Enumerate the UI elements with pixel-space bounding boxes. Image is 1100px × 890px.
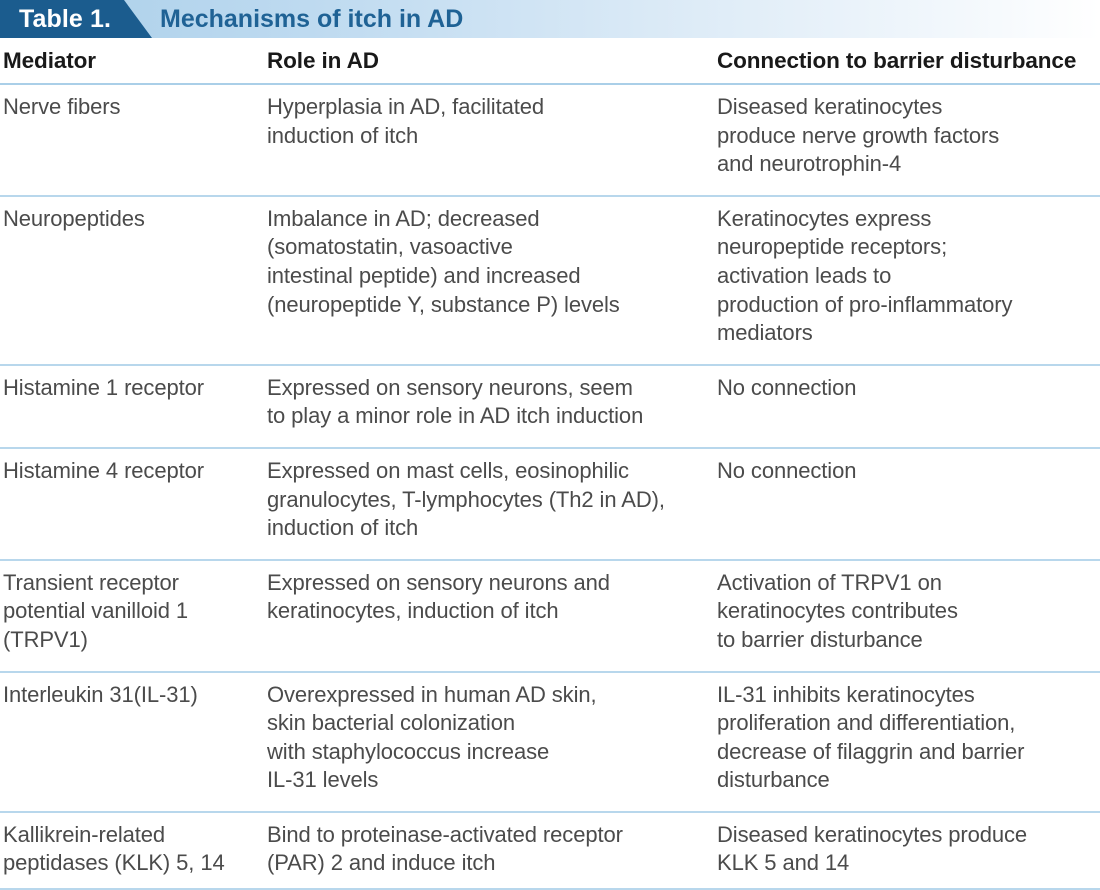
table-row: Nerve fibersHyperplasia in AD, facilitat… xyxy=(0,84,1100,196)
cell-role-in-ad: Expressed on sensory neurons, seemto pla… xyxy=(267,365,717,448)
cell-line: neuropeptide receptors; xyxy=(717,233,1086,262)
cell-line: production of pro-inflammatory xyxy=(717,291,1086,320)
cell-mediator: Kallikrein-relatedpeptidases (KLK) 5, 14 xyxy=(0,812,267,889)
cell-line: Expressed on sensory neurons and xyxy=(267,569,703,598)
cell-line: intestinal peptide) and increased xyxy=(267,262,703,291)
cell-line: induction of itch xyxy=(267,514,703,543)
column-header-role-in-ad: Role in AD xyxy=(267,38,717,84)
cell-connection-to-barrier-disturbance: Keratinocytes expressneuropeptide recept… xyxy=(717,196,1100,365)
cell-line: Interleukin 31(IL-31) xyxy=(3,681,253,710)
table-row: Interleukin 31(IL-31)Overexpressed in hu… xyxy=(0,672,1100,812)
cell-line: (somatostatin, vasoactive xyxy=(267,233,703,262)
cell-line: (neuropeptide Y, substance P) levels xyxy=(267,291,703,320)
cell-line: keratinocytes contributes xyxy=(717,597,1086,626)
cell-line: Diseased keratinocytes produce xyxy=(717,821,1086,850)
cell-line: IL-31 inhibits keratinocytes xyxy=(717,681,1086,710)
cell-line: Imbalance in AD; decreased xyxy=(267,205,703,234)
cell-line: (TRPV1) xyxy=(3,626,253,655)
table-caption: Mechanisms of itch in AD xyxy=(160,0,463,38)
cell-line: Expressed on mast cells, eosinophilic xyxy=(267,457,703,486)
table-row: NeuropeptidesImbalance in AD; decreased(… xyxy=(0,196,1100,365)
column-header-connection-to-barrier-disturbance: Connection to barrier disturbance xyxy=(717,38,1100,84)
table-row: Histamine 4 receptorExpressed on mast ce… xyxy=(0,448,1100,560)
cell-role-in-ad: Expressed on mast cells, eosinophilicgra… xyxy=(267,448,717,560)
cell-mediator: Nerve fibers xyxy=(0,84,267,196)
cell-line: Neuropeptides xyxy=(3,205,253,234)
cell-line: and neurotrophin-4 xyxy=(717,150,1086,179)
cell-role-in-ad: Bind to proteinase-activated receptor(PA… xyxy=(267,812,717,889)
cell-connection-to-barrier-disturbance: IL-31 inhibits keratinocytesproliferatio… xyxy=(717,672,1100,812)
cell-line: Bind to proteinase-activated receptor xyxy=(267,821,703,850)
table-row: Transient receptorpotential vanilloid 1(… xyxy=(0,560,1100,672)
cell-line: proliferation and differentiation, xyxy=(717,709,1086,738)
cell-line: granulocytes, T-lymphocytes (Th2 in AD), xyxy=(267,486,703,515)
table-header-row: Mediator Role in AD Connection to barrie… xyxy=(0,38,1100,84)
cell-line: keratinocytes, induction of itch xyxy=(267,597,703,626)
cell-connection-to-barrier-disturbance: No connection xyxy=(717,448,1100,560)
table-number-label: Table 1. xyxy=(19,0,111,38)
cell-line: Activation of TRPV1 on xyxy=(717,569,1086,598)
cell-line: Nerve fibers xyxy=(3,93,253,122)
cell-line: Keratinocytes express xyxy=(717,205,1086,234)
cell-connection-to-barrier-disturbance: Diseased keratinocytesproduce nerve grow… xyxy=(717,84,1100,196)
table-head: Mediator Role in AD Connection to barrie… xyxy=(0,38,1100,84)
mechanisms-of-itch-table: Mediator Role in AD Connection to barrie… xyxy=(0,38,1100,890)
cell-line: No connection xyxy=(717,457,1086,486)
cell-line: Transient receptor xyxy=(3,569,253,598)
cell-line: (PAR) 2 and induce itch xyxy=(267,849,703,878)
cell-connection-to-barrier-disturbance: No connection xyxy=(717,365,1100,448)
cell-role-in-ad: Overexpressed in human AD skin,skin bact… xyxy=(267,672,717,812)
cell-line: to play a minor role in AD itch inductio… xyxy=(267,402,703,431)
cell-line: Hyperplasia in AD, facilitated xyxy=(267,93,703,122)
cell-role-in-ad: Imbalance in AD; decreased(somatostatin,… xyxy=(267,196,717,365)
cell-line: potential vanilloid 1 xyxy=(3,597,253,626)
cell-line: decrease of filaggrin and barrier xyxy=(717,738,1086,767)
cell-line: with staphylococcus increase xyxy=(267,738,703,767)
cell-line: Histamine 1 receptor xyxy=(3,374,253,403)
cell-connection-to-barrier-disturbance: Activation of TRPV1 onkeratinocytes cont… xyxy=(717,560,1100,672)
cell-connection-to-barrier-disturbance: Diseased keratinocytes produceKLK 5 and … xyxy=(717,812,1100,889)
cell-line: Expressed on sensory neurons, seem xyxy=(267,374,703,403)
table-row: Histamine 1 receptorExpressed on sensory… xyxy=(0,365,1100,448)
cell-line: Kallikrein-related xyxy=(3,821,253,850)
table-title-banner: Table 1. Mechanisms of itch in AD xyxy=(0,0,1100,38)
cell-line: disturbance xyxy=(717,766,1086,795)
cell-mediator: Interleukin 31(IL-31) xyxy=(0,672,267,812)
cell-line: mediators xyxy=(717,319,1086,348)
cell-line: IL-31 levels xyxy=(267,766,703,795)
cell-line: activation leads to xyxy=(717,262,1086,291)
cell-line: Diseased keratinocytes xyxy=(717,93,1086,122)
cell-mediator: Transient receptorpotential vanilloid 1(… xyxy=(0,560,267,672)
table-row: Kallikrein-relatedpeptidases (KLK) 5, 14… xyxy=(0,812,1100,889)
cell-mediator: Histamine 4 receptor xyxy=(0,448,267,560)
cell-role-in-ad: Hyperplasia in AD, facilitatedinduction … xyxy=(267,84,717,196)
cell-line: Histamine 4 receptor xyxy=(3,457,253,486)
table-body: Nerve fibersHyperplasia in AD, facilitat… xyxy=(0,84,1100,889)
cell-mediator: Histamine 1 receptor xyxy=(0,365,267,448)
cell-mediator: Neuropeptides xyxy=(0,196,267,365)
cell-line: No connection xyxy=(717,374,1086,403)
cell-line: peptidases (KLK) 5, 14 xyxy=(3,849,253,878)
cell-role-in-ad: Expressed on sensory neurons andkeratino… xyxy=(267,560,717,672)
cell-line: KLK 5 and 14 xyxy=(717,849,1086,878)
cell-line: induction of itch xyxy=(267,122,703,151)
column-header-mediator: Mediator xyxy=(0,38,267,84)
cell-line: Overexpressed in human AD skin, xyxy=(267,681,703,710)
cell-line: produce nerve growth factors xyxy=(717,122,1086,151)
cell-line: skin bacterial colonization xyxy=(267,709,703,738)
table-figure: Table 1. Mechanisms of itch in AD Mediat… xyxy=(0,0,1100,821)
cell-line: to barrier disturbance xyxy=(717,626,1086,655)
